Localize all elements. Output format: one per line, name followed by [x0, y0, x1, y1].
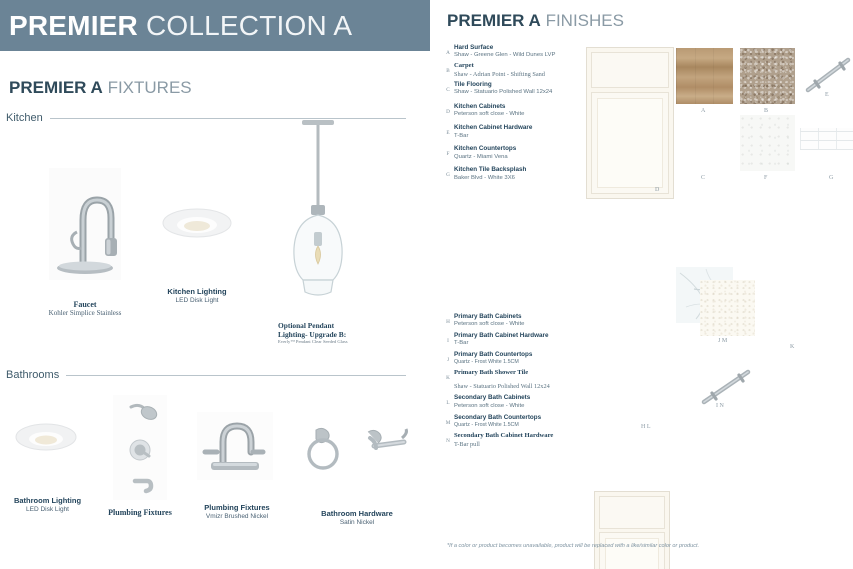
legend-key-h: H — [442, 313, 454, 329]
caption-faucet: Faucet Kohler Simplice Stainless — [30, 300, 140, 317]
swatch-label-jm: J M — [718, 338, 727, 344]
legend-item-b: B Carpet Shaw - Adrian Point - Shifting … — [442, 62, 587, 79]
legend-item-f: F Kitchen Countertops Quartz - Miami Ven… — [442, 145, 587, 161]
caption-kitchen-lighting-title: Kitchen Lighting — [147, 288, 247, 297]
caption-bath-hardware-title: Bathroom Hardware — [312, 510, 402, 519]
legend-title-h: Primary Bath Cabinets — [454, 313, 587, 321]
caption-faucet-detail: Kohler Simplice Stainless — [30, 309, 140, 317]
bath-faucet-image — [197, 412, 273, 480]
page-title-light: COLLECTION A — [146, 10, 352, 41]
fixtures-title-bold: PREMIER A — [9, 78, 103, 97]
legend-sub-a: Shaw - Greene Glen - Wild Dunes LVP — [454, 52, 587, 60]
legend-title-l: Secondary Bath Cabinets — [454, 394, 587, 402]
caption-shower-trim-title: Plumbing Fixtures — [100, 508, 180, 517]
swatch-label-g: G — [829, 175, 833, 181]
legend-sub-h: Peterson soft close - White — [454, 321, 587, 329]
swatch-hl-bath-cabinet-door — [594, 491, 670, 569]
legend-sub-b: Shaw - Adrian Point - Shifting Sand — [454, 71, 587, 79]
legend-item-e: E Kitchen Cabinet Hardware T-Bar — [442, 124, 587, 140]
legend-key-n: N — [442, 432, 454, 449]
swatch-label-b: B — [764, 108, 768, 114]
caption-bathroom-lighting-title: Bathroom Lighting — [0, 497, 95, 506]
legend-sub-i: T-Bar — [454, 340, 587, 348]
kitchen-divider — [50, 118, 406, 119]
legend-baths: H Primary Bath Cabinets Peterson soft cl… — [442, 313, 587, 451]
legend-key-f: F — [442, 145, 454, 161]
page-header-bar: PREMIER COLLECTION A — [0, 0, 430, 51]
bath-disk-light-image — [15, 420, 77, 454]
legend-item-k: K Primary Bath Shower Tile Shaw - Statua… — [442, 369, 587, 391]
legend-sub-m: Quartz - Frost White 1.5CM — [454, 422, 587, 429]
caption-bath-hardware: Bathroom Hardware Satin Nickel — [312, 510, 402, 526]
legend-sub-l: Peterson soft close - White — [454, 403, 587, 411]
legend-sub-k: Shaw - Statuario Polished Wall 12x24 — [454, 383, 587, 391]
swatch-b-carpet — [740, 48, 795, 104]
caption-faucet-title: Faucet — [30, 300, 140, 309]
swatch-label-k: K — [790, 344, 794, 350]
caption-kitchen-lighting: Kitchen Lighting LED Disk Light — [147, 288, 247, 304]
cabinet-drawer-panel — [591, 52, 669, 88]
caption-pendant-detail: Everly™ Pendant Clear Seeded Glass — [278, 339, 358, 345]
swatch-label-in: I N — [716, 403, 724, 409]
legend-key-m: M — [442, 414, 454, 429]
shower-trim-image — [113, 395, 167, 500]
swatch-label-hl: H L — [641, 424, 651, 430]
caption-bath-faucet-title: Plumbing Fixtures — [196, 504, 278, 513]
legend-title-m: Secondary Bath Countertops — [454, 414, 587, 422]
cabinet-door-panel — [591, 92, 669, 195]
legend-kitchen: A Hard Surface Shaw - Greene Glen - Wild… — [442, 44, 587, 184]
bathrooms-divider — [66, 375, 406, 376]
legend-key-b: B — [442, 62, 454, 79]
caption-bath-faucet-detail: Vmizr Brushed Nickel — [196, 513, 278, 520]
legend-key-e: E — [442, 124, 454, 140]
legend-item-h: H Primary Bath Cabinets Peterson soft cl… — [442, 313, 587, 329]
legend-key-d: D — [442, 103, 454, 119]
pendant-light-image — [278, 120, 358, 305]
swatch-label-d: D — [655, 187, 659, 193]
swatch-label-e: E — [825, 92, 829, 98]
footnote-disclaimer: *If a color or product becomes unavailab… — [447, 543, 699, 549]
caption-kitchen-lighting-detail: LED Disk Light — [147, 297, 247, 304]
swatch-label-a: A — [701, 108, 705, 114]
caption-pendant-title: Optional Pendant Lighting- Upgrade B: — [278, 322, 358, 339]
legend-title-b: Carpet — [454, 62, 587, 71]
legend-title-n: Secondary Bath Cabinet Hardware — [454, 432, 587, 441]
bathrooms-group-label: Bathrooms — [6, 369, 66, 381]
swatch-g-kitchen-backsplash — [800, 128, 853, 150]
swatch-f-kitchen-countertops — [740, 115, 795, 171]
legend-key-j: J — [442, 351, 454, 366]
caption-shower-trim: Plumbing Fixtures — [100, 508, 180, 517]
legend-item-n: N Secondary Bath Cabinet Hardware T-Bar … — [442, 432, 587, 449]
legend-title-j: Primary Bath Countertops — [454, 351, 587, 359]
legend-key-c: C — [442, 81, 454, 97]
caption-bathroom-lighting: Bathroom Lighting LED Disk Light — [0, 497, 95, 513]
swatch-a-hard-surface — [676, 48, 733, 104]
legend-key-a: A — [442, 44, 454, 60]
finishes-board-page: PREMIER COLLECTION A PREMIER A FIXTURES … — [0, 0, 853, 569]
swatch-jm-bath-countertops — [700, 280, 755, 336]
finishes-section-title: PREMIER A FINISHES — [447, 11, 624, 31]
finishes-title-light: FINISHES — [546, 11, 624, 30]
legend-key-g: G — [442, 166, 454, 182]
legend-sub-d: Peterson soft close - White — [454, 111, 587, 119]
legend-key-l: L — [442, 394, 454, 410]
legend-title-g: Kitchen Tile Backsplash — [454, 166, 587, 174]
finishes-title-bold: PREMIER A — [447, 11, 541, 30]
legend-item-l: L Secondary Bath Cabinets Peterson soft … — [442, 394, 587, 410]
towel-ring-bar-image — [298, 424, 410, 476]
bath-cabinet-door-panel — [599, 532, 665, 569]
legend-sub-c: Shaw - Statuario Polished Wall 12x24 — [454, 89, 587, 97]
caption-pendant: Optional Pendant Lighting- Upgrade B: Ev… — [278, 322, 358, 345]
legend-key-i: I — [442, 332, 454, 348]
legend-item-a: A Hard Surface Shaw - Greene Glen - Wild… — [442, 44, 587, 60]
swatch-label-f: F — [764, 175, 767, 181]
legend-item-m: M Secondary Bath Countertops Quartz - Fr… — [442, 414, 587, 429]
swatch-d-kitchen-cabinet-door — [586, 47, 674, 199]
caption-bath-faucet: Plumbing Fixtures Vmizr Brushed Nickel — [196, 504, 278, 520]
legend-item-j: J Primary Bath Countertops Quartz - Fros… — [442, 351, 587, 366]
fixtures-section-title: PREMIER A FIXTURES — [9, 78, 192, 98]
fixtures-column: PREMIER COLLECTION A PREMIER A FIXTURES … — [0, 0, 430, 569]
legend-title-i: Primary Bath Cabinet Hardware — [454, 332, 587, 340]
legend-item-i: I Primary Bath Cabinet Hardware T-Bar — [442, 332, 587, 348]
legend-title-a: Hard Surface — [454, 44, 587, 52]
legend-key-k: K — [442, 369, 454, 391]
legend-item-c: C Tile Flooring Shaw - Statuario Polishe… — [442, 81, 587, 97]
caption-bathroom-lighting-detail: LED Disk Light — [0, 506, 95, 513]
legend-sub-n: T-Bar pull — [454, 441, 587, 449]
page-title: PREMIER COLLECTION A — [0, 10, 352, 42]
disk-light-image — [162, 205, 232, 241]
legend-item-g: G Kitchen Tile Backsplash Baker Blvd - W… — [442, 166, 587, 182]
bath-cabinet-drawer-panel — [599, 496, 665, 529]
swatch-label-c: C — [701, 175, 705, 181]
swatch-in-bath-cabinet-hardware — [698, 362, 756, 410]
legend-sub-g: Baker Blvd - White 3X6 — [454, 175, 587, 183]
legend-sub-f: Quartz - Miami Vena — [454, 154, 587, 162]
finishes-column: PREMIER A FINISHES A Hard Surface Shaw -… — [430, 0, 853, 569]
swatch-e-kitchen-cabinet-hardware — [802, 50, 853, 98]
bathrooms-group-header: Bathrooms — [6, 369, 406, 381]
caption-bath-hardware-detail: Satin Nickel — [312, 519, 402, 526]
legend-title-k: Primary Bath Shower Tile — [454, 369, 587, 378]
legend-item-d: D Kitchen Cabinets Peterson soft close -… — [442, 103, 587, 119]
kitchen-faucet-image — [49, 168, 121, 280]
fixtures-title-light: FIXTURES — [108, 78, 192, 97]
legend-title-d: Kitchen Cabinets — [454, 103, 587, 111]
legend-title-c: Tile Flooring — [454, 81, 587, 89]
legend-title-f: Kitchen Countertops — [454, 145, 587, 153]
legend-sub-j: Quartz - Frost White 1.5CM — [454, 359, 587, 366]
legend-title-e: Kitchen Cabinet Hardware — [454, 124, 587, 132]
legend-sub-e: T-Bar — [454, 133, 587, 141]
page-title-bold: PREMIER — [9, 10, 138, 41]
kitchen-group-label: Kitchen — [6, 112, 50, 124]
